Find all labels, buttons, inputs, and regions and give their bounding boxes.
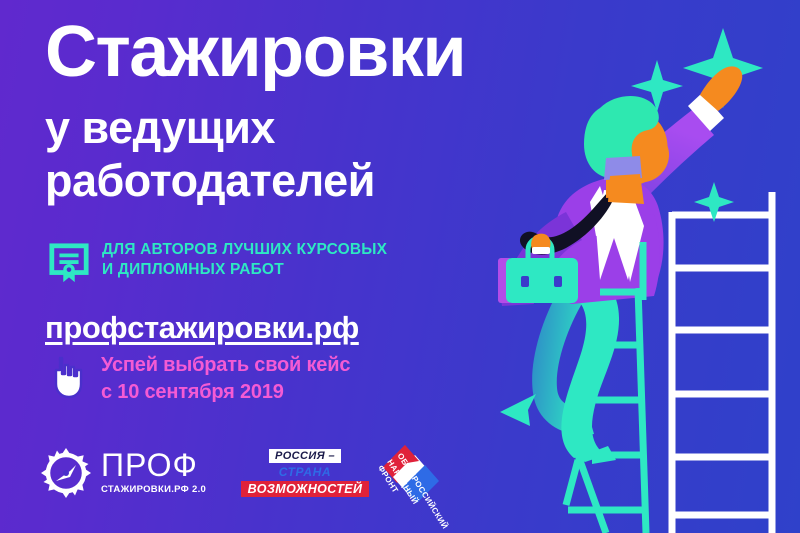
subheadline-line-1: у ведущих xyxy=(45,105,275,151)
prof-wordmark: ПРОФ СТАЖИРОВКИ.РФ 2.0 xyxy=(101,451,206,494)
audience-note: ДЛЯ АВТОРОВ ЛУЧШИХ КУРСОВЫХ И ДИПЛОМНЫХ … xyxy=(48,240,387,284)
logo-prof[interactable]: ПРОФ СТАЖИРОВКИ.РФ 2.0 xyxy=(40,447,240,499)
logo-rossiya-strana-vozmozhnostey[interactable]: РОССИЯ – СТРАНА ВОЗМОЖНОСТЕЙ xyxy=(245,449,365,497)
subheadline-line-2: работодателей xyxy=(45,158,375,204)
prof-subtitle: СТАЖИРОВКИ.РФ 2.0 xyxy=(101,484,206,495)
prof-title: ПРОФ xyxy=(101,451,206,480)
logo-strip: ПРОФ СТАЖИРОВКИ.РФ 2.0 РОССИЯ – СТРАНА В… xyxy=(40,437,494,509)
cta-line-2: с 10 сентября 2019 xyxy=(101,379,350,406)
rsv-line-2: СТРАНА xyxy=(279,465,331,479)
gear-compass-icon xyxy=(40,447,92,499)
ladder-front-rail-extension xyxy=(566,460,578,505)
ladder-back-icon xyxy=(672,192,772,533)
rsv-line-3: ВОЗМОЖНОСТЕЙ xyxy=(241,481,370,497)
cta-line-1: Успей выбрать свой кейс xyxy=(101,352,350,379)
neck-front-shape xyxy=(608,174,644,204)
cta-text: Успей выбрать свой кейс с 10 сентября 20… xyxy=(101,350,350,406)
audience-line-2: И ДИПЛОМНЫХ РАБОТ xyxy=(102,260,387,280)
rsv-line-1: РОССИЯ – xyxy=(269,449,341,463)
certificate-icon xyxy=(48,242,90,284)
audience-line-1: ДЛЯ АВТОРОВ ЛУЧШИХ КУРСОВЫХ xyxy=(102,240,387,260)
website-url[interactable]: профстажировки.рф xyxy=(45,310,359,346)
audience-text: ДЛЯ АВТОРОВ ЛУЧШИХ КУРСОВЫХ И ДИПЛОМНЫХ … xyxy=(102,240,387,280)
promo-banner: Стажировки у ведущих работодателей ДЛЯ А… xyxy=(0,0,800,533)
cta-block: Успей выбрать свой кейс с 10 сентября 20… xyxy=(47,350,350,406)
headline: Стажировки xyxy=(45,18,465,87)
content-column: Стажировки у ведущих работодателей ДЛЯ А… xyxy=(0,0,520,533)
hand-pointer-cursor-icon xyxy=(47,352,91,400)
logo-onf[interactable]: ОБЩЕРОССИЙСКИЙ НАРОДНЫЙ ФРОНТ xyxy=(379,437,494,509)
